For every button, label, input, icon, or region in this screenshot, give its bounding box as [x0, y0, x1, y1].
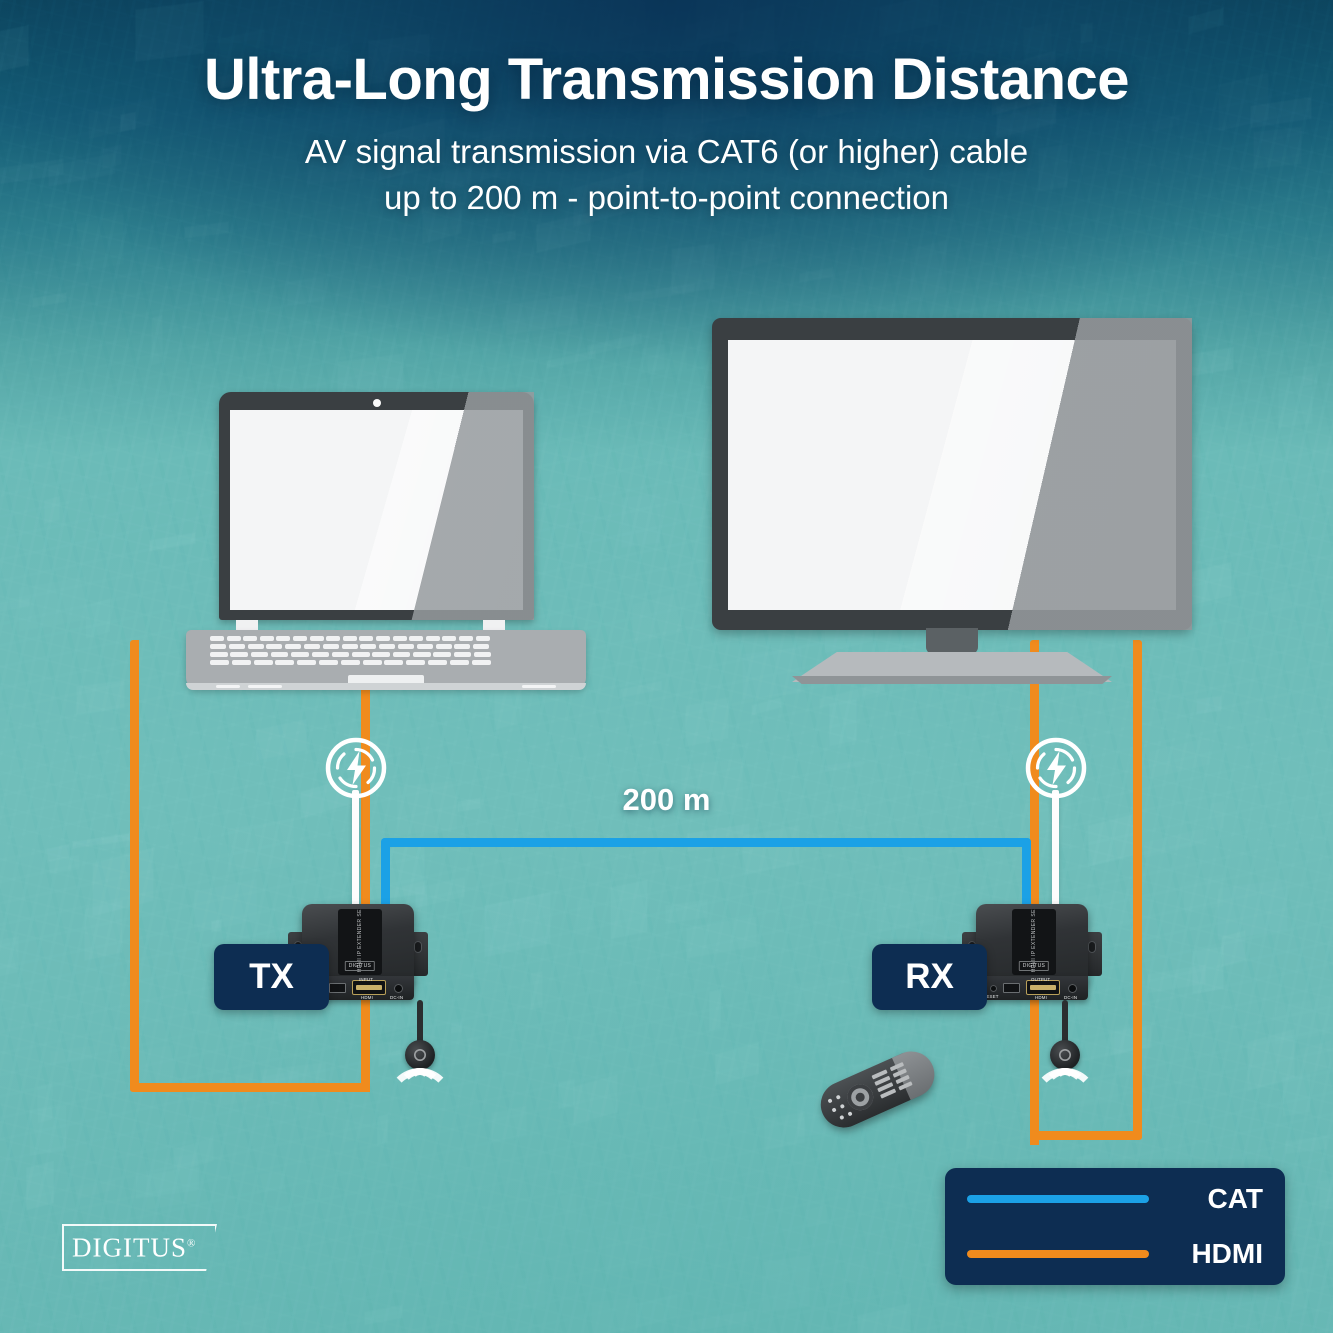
subtitle: AV signal transmission via CAT6 (or high… — [0, 129, 1333, 220]
tx-brand-logo: DIGITUS — [345, 961, 375, 971]
tx-badge: TX — [214, 944, 329, 1010]
distance-label: 200 m — [0, 782, 1333, 818]
tv-frame-shade — [923, 318, 1192, 630]
page-title: Ultra-Long Transmission Distance — [0, 46, 1333, 113]
tv-stand-neck — [926, 628, 978, 654]
rx-body: HDMI IP EXTENDER SET DIGITUS — [976, 904, 1088, 984]
rx-front-panel: RESET OUTPUT HDMI DC-IN — [976, 976, 1088, 1000]
laptop-base — [186, 630, 586, 688]
tv-monitor-icon — [712, 318, 1192, 700]
logo-text-wrap: DIGITUS® — [72, 1232, 196, 1263]
legend-item-hdmi: HDMI — [967, 1238, 1263, 1270]
rx-hdmi-port[interactable] — [1026, 980, 1060, 995]
legend-item-cat: CAT — [967, 1183, 1263, 1215]
legend-line-hdmi — [967, 1250, 1149, 1258]
rx-hdmi-output-label: OUTPUT — [1031, 977, 1050, 982]
hdmi-cable-laptop-to-tx — [130, 640, 370, 1092]
tx-hdmi-input-label: INPUT — [359, 977, 373, 982]
logo-trademark: ® — [187, 1237, 196, 1249]
tx-ir-signal-icon — [395, 1000, 485, 1120]
cat-cable-tx-to-rx — [381, 838, 1031, 924]
tx-ir-head — [405, 1040, 435, 1070]
rx-badge: RX — [872, 944, 987, 1010]
subtitle-line-1: AV signal transmission via CAT6 (or high… — [0, 129, 1333, 175]
rx-badge-label: RX — [905, 957, 954, 996]
tx-ir-wave-3 — [387, 1068, 453, 1134]
tv-frame — [712, 318, 1192, 630]
hdmi-cable-rx-riser — [1030, 1000, 1039, 1145]
tx-usb-port[interactable] — [329, 983, 346, 993]
tx-top-label: HDMI IP EXTENDER SET DIGITUS — [338, 909, 382, 975]
distance-value: 200 m — [623, 782, 711, 817]
tv-stand-base-shadow — [792, 676, 1112, 684]
hdmi-cable-tx-riser — [361, 1000, 370, 1092]
subtitle-line-2: up to 200 m - point-to-point connection — [0, 175, 1333, 221]
laptop-lid — [219, 392, 534, 620]
digitus-logo: DIGITUS® — [62, 1224, 217, 1271]
tx-badge-label: TX — [249, 957, 294, 996]
rx-dc-in-port[interactable] — [1068, 984, 1077, 993]
laptop-vent-left-2 — [248, 685, 282, 688]
legend: CAT HDMI — [945, 1168, 1285, 1285]
header: Ultra-Long Transmission Distance AV sign… — [0, 46, 1333, 220]
rx-brand-logo: DIGITUS — [1019, 961, 1049, 971]
rx-ir-signal-icon — [1040, 1000, 1130, 1120]
logo-text: DIGITUS — [72, 1232, 187, 1262]
rx-ir-head — [1050, 1040, 1080, 1070]
tx-dc-in-port[interactable] — [394, 984, 403, 993]
laptop-webcam-icon — [373, 399, 381, 407]
tx-hdmi-port[interactable] — [352, 980, 386, 995]
legend-line-cat — [967, 1195, 1149, 1203]
legend-label-hdmi: HDMI — [1167, 1238, 1263, 1270]
legend-label-cat: CAT — [1167, 1183, 1263, 1215]
laptop-vent-right — [522, 685, 556, 688]
rx-usb-port[interactable] — [1003, 983, 1020, 993]
laptop-screen-glare — [230, 410, 523, 610]
tx-hdmi-label: HDMI — [361, 995, 373, 1000]
rx-reset-button[interactable] — [990, 985, 997, 992]
rx-top-label: HDMI IP EXTENDER SET DIGITUS — [1012, 909, 1056, 975]
laptop-screen — [230, 410, 523, 610]
legend-rows: CAT HDMI — [967, 1183, 1263, 1270]
rx-ir-wave-3 — [1032, 1068, 1098, 1134]
laptop-icon — [186, 392, 586, 697]
laptop-vent-left — [216, 685, 240, 688]
laptop-keyboard — [210, 636, 562, 672]
